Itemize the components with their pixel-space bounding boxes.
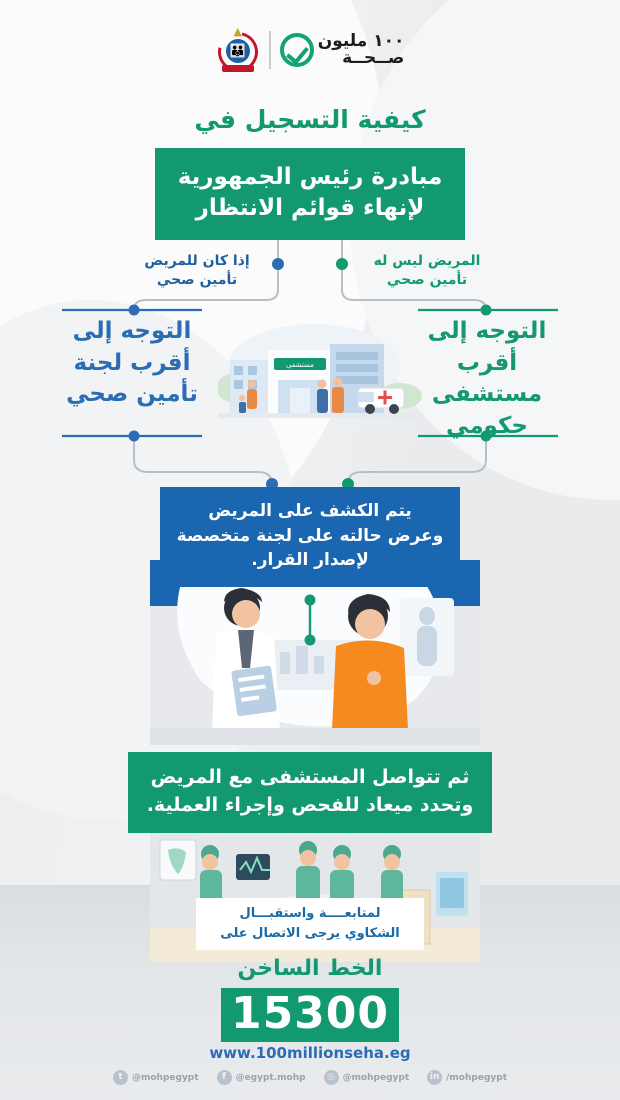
social-handle-instagram: @mohpegypt (343, 1073, 410, 1083)
linkedin-icon: in (427, 1070, 442, 1085)
logo-100-line2: صــحــة (318, 50, 405, 67)
website-url[interactable]: www.100millionseha.eg (0, 1044, 620, 1062)
logo-100-text: ١٠٠ مليون صــحــة (318, 33, 405, 67)
page-pretitle: كيفية التسجيل في (0, 105, 620, 134)
complaints-line2: الشكاوي يرجى الاتصال على (204, 924, 416, 944)
page-title: مبادرة رئيس الجمهورية لإنهاء قوائم الانت… (155, 148, 465, 240)
branch-action-insurance-committee: التوجه إلى أقرب لجنة تأمين صحي (62, 316, 202, 411)
social-link-instagram[interactable]: ◎ @mohpegypt (324, 1070, 410, 1085)
flow-dot (305, 595, 316, 606)
twitter-icon: t (113, 1070, 128, 1085)
social-handle-facebook: @egypt.mohp (236, 1073, 306, 1083)
social-link-twitter[interactable]: t @mohpegypt (113, 1070, 199, 1085)
hotline-number-box[interactable]: 15300 (221, 988, 399, 1042)
flow-dot (129, 431, 140, 442)
instagram-icon: ◎ (324, 1070, 339, 1085)
branch-action-insured-l1: التوجه إلى (62, 316, 202, 348)
complaints-line1: لمتابعــــة واستقبـــال (204, 904, 416, 924)
branch-action-uninsured-l3: حكومي (412, 411, 562, 443)
branch-condition-uninsured-l1: المريض ليس له (352, 252, 502, 271)
infographic-page: ١٠٠ مليون صــحــة ▲ 👪 كيفية التسجيل في م… (0, 0, 620, 1100)
branch-condition-insured: إذا كان للمريض تأمين صحي (122, 252, 272, 290)
step-examination-l2: وعرض حالته على لجنة متخصصة (172, 524, 448, 549)
step-examination-l3: لإصدار القرار. (172, 548, 448, 573)
social-handle-twitter: @mohpegypt (132, 1073, 199, 1083)
branch-action-insured-l3: تأمين صحي (62, 379, 202, 411)
branch-condition-insured-l1: إذا كان للمريض (122, 252, 272, 271)
facebook-icon: f (217, 1070, 232, 1085)
social-handle-linkedin: /mohpegypt (446, 1073, 507, 1083)
branch-action-government-hospital: التوجه إلى أقرب مستشفى حكومي (412, 316, 562, 443)
step-hospital-contact-box: ثم تتواصل المستشفى مع المريض وتحدد ميعاد… (128, 752, 492, 833)
step-contact-l1: ثم تتواصل المستشفى مع المريض (140, 764, 480, 792)
hotline-number[interactable]: 15300 (221, 992, 399, 1036)
hotline-label: الخط الساخن (0, 956, 620, 981)
step-contact-l2: وتحدد ميعاد للفحص وإجراء العملية. (140, 792, 480, 820)
page-title-line1: مبادرة رئيس الجمهورية (167, 162, 453, 193)
emblem-center: 👪 (226, 39, 250, 63)
step-examination-box: يتم الكشف على المريض وعرض حالته على لجنة… (160, 487, 460, 587)
flow-dot (481, 305, 492, 316)
social-links: t @mohpegypt f @egypt.mohp ◎ @mohpegypt … (0, 1070, 620, 1085)
branch-action-uninsured-l1: التوجه إلى (412, 316, 562, 348)
egypt-ministry-of-health-emblem: ▲ 👪 (216, 26, 260, 74)
page-title-line2: لإنهاء قوائم الانتظار (167, 193, 453, 224)
branch-condition-insured-l2: تأمين صحي (122, 271, 272, 290)
flow-dot (336, 258, 348, 270)
green-check-circle-icon (280, 33, 314, 67)
header-logos: ١٠٠ مليون صــحــة ▲ 👪 (0, 26, 620, 74)
logo-divider (269, 31, 271, 69)
flow-dot (129, 305, 140, 316)
social-link-facebook[interactable]: f @egypt.mohp (217, 1070, 306, 1085)
complaints-notice: لمتابعــــة واستقبـــال الشكاوي يرجى الا… (196, 898, 424, 950)
social-link-linkedin[interactable]: in /mohpegypt (427, 1070, 507, 1085)
flow-dot (272, 258, 284, 270)
branch-action-uninsured-l2: أقرب مستشفى (412, 348, 562, 411)
branch-action-insured-l2: أقرب لجنة (62, 348, 202, 380)
family-icon: 👪 (230, 45, 246, 58)
branch-condition-uninsured-l2: تأمين صحي (352, 271, 502, 290)
flow-dot (305, 635, 316, 646)
branch-condition-uninsured: المريض ليس له تأمين صحي (352, 252, 502, 290)
step-examination-l1: يتم الكشف على المريض (172, 499, 448, 524)
logo-100-million-health: ١٠٠ مليون صــحــة (280, 33, 405, 67)
emblem-banner (222, 65, 254, 72)
